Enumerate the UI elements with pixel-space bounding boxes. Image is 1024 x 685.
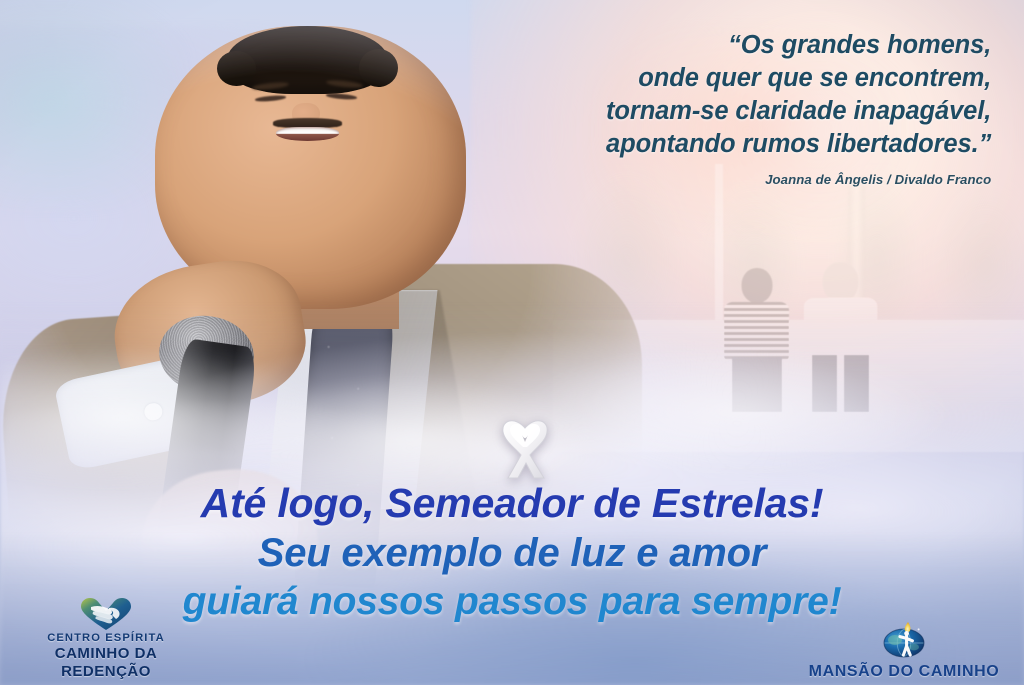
head [823, 262, 858, 301]
hair [227, 26, 389, 94]
quote-line-2: onde quer que se encontrem, [418, 62, 991, 95]
logo-left-line-1: CENTRO ESPÍRITA [8, 631, 204, 645]
white-mourning-ribbon-icon [495, 408, 555, 486]
quote-line-1: “Os grandes homens, [418, 29, 991, 62]
headline-line-1: Até logo, Semeador de Estrelas! [0, 483, 1024, 524]
logo-left-line-2: CAMINHO DA REDENÇÃO [8, 645, 204, 681]
memorial-poster: “Os grandes homens, onde quer que se enc… [0, 0, 1024, 685]
headline-line-2: Seu exemplo de luz e amor [0, 533, 1024, 573]
quote-line-4: apontando rumos libertadores.” [418, 128, 991, 161]
globe-with-figure-and-flame-icon [878, 620, 930, 662]
logo-centro-espirita: CENTRO ESPÍRITA CAMINHO DA REDENÇÃO [8, 597, 204, 681]
quote-block: “Os grandes homens, onde quer que se enc… [418, 29, 991, 188]
quote-attribution: Joanna de Ângelis / Divaldo Franco [418, 172, 991, 187]
heart-with-hands-icon [79, 597, 133, 631]
smiling-mouth [276, 127, 338, 142]
eye [326, 93, 357, 100]
quote-line-3: tornam-se claridade inapagável, [418, 95, 991, 128]
head [741, 268, 772, 303]
logo-right-line-1: MANSÃO DO CAMINHO [792, 662, 1016, 681]
logo-mansao-do-caminho: MANSÃO DO CAMINHO [792, 620, 1016, 681]
eye [255, 94, 286, 101]
